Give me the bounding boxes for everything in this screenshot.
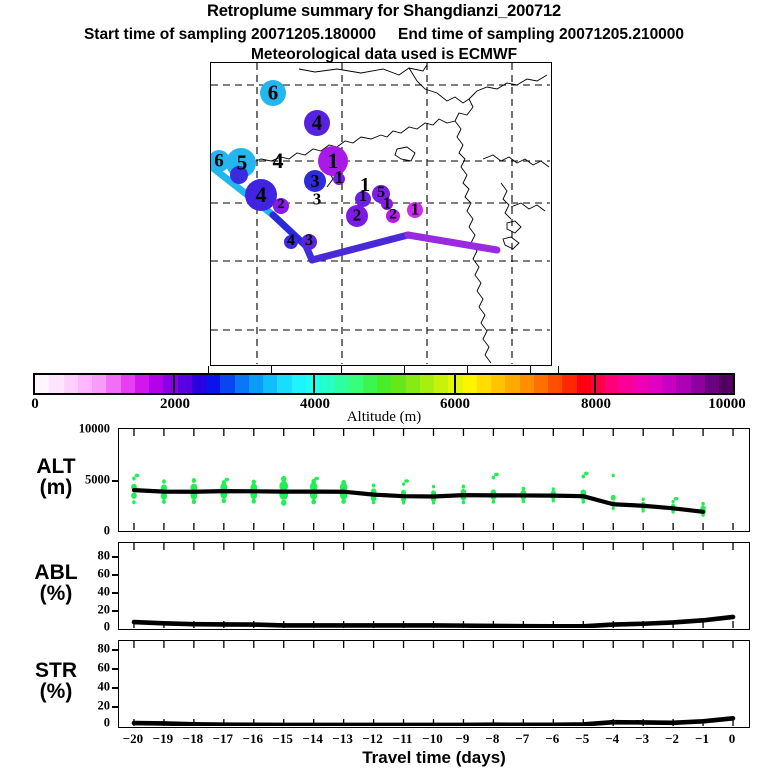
colorbar-swatch-8 (149, 375, 163, 393)
x-tick-label: −5 (575, 731, 589, 747)
colorbar-swatch-12 (206, 375, 220, 393)
alt-scatter-point (672, 500, 675, 504)
colorbar-swatch-46 (691, 375, 705, 393)
plume-marker-label: 1 (335, 168, 344, 186)
alt-scatter-point (432, 485, 435, 489)
str-ytick-label: 60 (64, 661, 110, 676)
alt-scatter-point (402, 501, 405, 505)
str-ytick-label: 80 (64, 642, 110, 657)
alt-scatter-point (131, 492, 137, 498)
map-gridlines (211, 63, 550, 364)
colorbar-swatch-17 (277, 375, 291, 393)
start-time-label: Start time of sampling 20071205.180000 (84, 26, 376, 43)
colorbar-swatch-7 (135, 375, 149, 393)
str-ytick-label: 20 (64, 699, 110, 714)
plume-marker-label: 4 (256, 184, 267, 206)
colorbar-swatch-26 (406, 375, 420, 393)
coastline-paths (211, 65, 549, 363)
alt-scatter-point (222, 498, 226, 503)
colorbar-swatch-18 (292, 375, 306, 393)
alt-scatter-point (552, 499, 555, 503)
x-tick-label: −10 (422, 731, 442, 747)
colorbar-swatch-14 (235, 375, 249, 393)
colorbar-swatch-1 (49, 375, 63, 393)
sampling-time-row: Start time of sampling 20071205.180000En… (0, 26, 768, 44)
alt-scatter-point (311, 499, 316, 504)
colorbar-swatch-32 (491, 375, 505, 393)
colorbar-swatch-10 (178, 375, 192, 393)
colorbar-tick (558, 366, 559, 373)
colorbar-swatch-30 (463, 375, 477, 393)
colorbar-swatch-9 (163, 375, 177, 393)
colorbar-swatch-23 (363, 375, 377, 393)
x-tick-label: −1 (695, 731, 709, 747)
x-tick-label: −8 (485, 731, 499, 747)
abl-ytick-label: 0 (64, 620, 110, 635)
alt-scatter-point (674, 497, 679, 501)
x-tick-label: −6 (545, 731, 559, 747)
alt-scatter-point (492, 500, 495, 504)
colorbar-swatch-45 (676, 375, 690, 393)
colorbar-swatch-16 (263, 375, 277, 393)
colorbar-swatch-41 (619, 375, 633, 393)
x-tick-label: −17 (213, 731, 233, 747)
abl-ytick-label: 20 (64, 603, 110, 618)
alt-scatter-point (672, 510, 675, 514)
colorbar-swatch-0 (35, 375, 49, 393)
alt-scatter-point (642, 509, 645, 513)
alt-scatter-point (192, 478, 196, 483)
x-tick-label: −7 (515, 731, 529, 747)
x-tick-label: −4 (605, 731, 619, 747)
alt-scatter-point (701, 502, 704, 506)
colorbar-tick (208, 366, 209, 373)
plume-marker-label: 6 (214, 152, 224, 171)
colorbar-swatch-4 (92, 375, 106, 393)
alt-panel[interactable] (118, 428, 750, 532)
alt-ytick-label: 0 (58, 524, 110, 539)
retroplume-map[interactable]: 6 4 6 5 4 4 2 3 3 1 1 1 1 5 1 2 2 1 (210, 62, 552, 366)
colorbar-swatch-24 (377, 375, 391, 393)
colorbar-swatch-11 (192, 375, 206, 393)
colorbar-swatch-25 (391, 375, 405, 393)
colorbar-swatch-34 (520, 375, 534, 393)
alt-scatter-point (162, 499, 166, 503)
colorbar-swatch-28 (434, 375, 448, 393)
colorbar-divider (454, 373, 456, 395)
colorbar-swatch-38 (577, 375, 591, 393)
colorbar-swatch-13 (220, 375, 234, 393)
plume-marker-label: 2 (278, 198, 285, 212)
colorbar-swatch-40 (605, 375, 619, 393)
alt-scatter-point (432, 501, 435, 505)
plume-marker-label: 3 (305, 233, 313, 249)
colorbar-swatch-48 (719, 375, 733, 393)
abl-ytick-label: 40 (64, 585, 110, 600)
x-tick-label: −9 (455, 731, 469, 747)
str-ytick-label: 40 (64, 680, 110, 695)
alt-scatter-point (584, 472, 589, 476)
plume-marker-label: 2 (389, 208, 397, 223)
colorbar-swatch-47 (705, 375, 719, 393)
colorbar-swatch-35 (534, 375, 548, 393)
colorbar-divider (313, 373, 315, 395)
alt-scatter-point (404, 479, 409, 483)
colorbar-swatch-33 (505, 375, 519, 393)
end-time-label: End time of sampling 20071205.210000 (398, 26, 684, 43)
alt-scatter-point (462, 500, 465, 504)
colorbar-swatch-21 (334, 375, 348, 393)
str-ytick-label: 0 (64, 716, 110, 731)
alt-ytick-label: 10000 (58, 422, 110, 437)
alt-scatter-point (372, 500, 375, 504)
x-axis-title: Travel time (days) (118, 748, 750, 768)
colorbar-divider (594, 373, 596, 395)
x-tick-label: −14 (302, 731, 322, 747)
colorbar-swatch-27 (420, 375, 434, 393)
x-tick-label: −13 (332, 731, 352, 747)
alt-scatter-point (582, 474, 585, 478)
alt-scatter-point (402, 482, 405, 486)
plume-marker-label: 5 (237, 153, 248, 174)
retroplume-figure: Retroplume summary for Shangdianzi_20071… (0, 0, 768, 768)
x-tick-label: −11 (393, 731, 413, 747)
colorbar-title: Altitude (m) (0, 409, 768, 426)
alt-ytick-label: 5000 (58, 473, 110, 488)
abl-ytick-label: 60 (64, 567, 110, 582)
colorbar-swatch-5 (106, 375, 120, 393)
page-title: Retroplume summary for Shangdianzi_20071… (0, 2, 768, 21)
plume-marker-label: 2 (353, 207, 362, 224)
alt-scatter-point (314, 477, 319, 481)
alt-scatter-point (281, 500, 286, 506)
alt-scatter-point (611, 495, 616, 501)
colorbar-swatch-20 (320, 375, 334, 393)
alt-scatter-point (341, 499, 346, 504)
str-chart (119, 641, 748, 726)
plume-marker-label: 4 (287, 233, 295, 249)
colorbar-swatch-2 (64, 375, 78, 393)
alt-scatter-point (252, 499, 256, 504)
plume-marker-label: 1 (359, 189, 367, 205)
colorbar-swatch-43 (648, 375, 662, 393)
colorbar-divider (173, 373, 175, 395)
plume-marker-label: 3 (313, 191, 322, 208)
alt-scatter-point (492, 475, 495, 479)
colorbar-swatch-42 (634, 375, 648, 393)
alt-scatter-point (462, 485, 465, 489)
x-tick-label: −19 (153, 731, 173, 747)
x-tick-label: −2 (665, 731, 679, 747)
x-tick-label: 0 (729, 731, 736, 747)
alt-scatter-point (642, 497, 645, 501)
colorbar-tick (341, 366, 342, 373)
alt-scatter-point (162, 479, 166, 483)
abl-chart (119, 543, 748, 628)
colorbar-tick (530, 366, 531, 373)
colorbar-tick (467, 366, 468, 373)
alt-chart (119, 429, 748, 530)
alt-scatter-point (132, 476, 135, 480)
alt-scatter-point (135, 474, 140, 478)
colorbar-swatch-15 (249, 375, 263, 393)
colorbar-tick (271, 366, 272, 373)
colorbar-swatch-3 (78, 375, 92, 393)
plume-marker-label: 1 (411, 201, 420, 218)
x-tick-label: −15 (273, 731, 293, 747)
map-canvas (211, 63, 550, 364)
colorbar-swatch-37 (562, 375, 576, 393)
colorbar-tick (404, 366, 405, 373)
alt-scatter-point (494, 473, 499, 477)
alt-scatter-point (582, 500, 585, 504)
x-tick-label: −16 (243, 731, 263, 747)
plume-marker-label: 4 (273, 150, 284, 172)
plume-marker-label: 4 (312, 113, 323, 134)
colorbar-swatch-31 (477, 375, 491, 393)
alt-scatter-point (612, 474, 615, 478)
alt-scatter-point (522, 499, 525, 503)
alt-scatter-point (224, 478, 229, 482)
plume-marker-label: 6 (268, 83, 279, 104)
alt-scatter-point (132, 500, 135, 504)
alt-scatter-point (612, 506, 615, 510)
colorbar-swatch-22 (349, 375, 363, 393)
altitude-colorbar (33, 373, 735, 395)
abl-panel[interactable] (118, 542, 750, 630)
plume-marker-label: 3 (311, 172, 320, 190)
colorbar-swatch-39 (591, 375, 605, 393)
x-tick-label: −12 (362, 731, 382, 747)
str-panel[interactable] (118, 640, 750, 728)
colorbar-swatch-44 (662, 375, 676, 393)
alt-scatter-point (372, 484, 375, 488)
x-tick-label: −18 (183, 731, 203, 747)
alt-scatter-point (192, 499, 196, 504)
colorbar-swatch-36 (548, 375, 562, 393)
x-tick-label: −20 (123, 731, 143, 747)
x-tick-label: −3 (635, 731, 649, 747)
abl-ytick-label: 80 (64, 549, 110, 564)
colorbar-swatch-6 (121, 375, 135, 393)
